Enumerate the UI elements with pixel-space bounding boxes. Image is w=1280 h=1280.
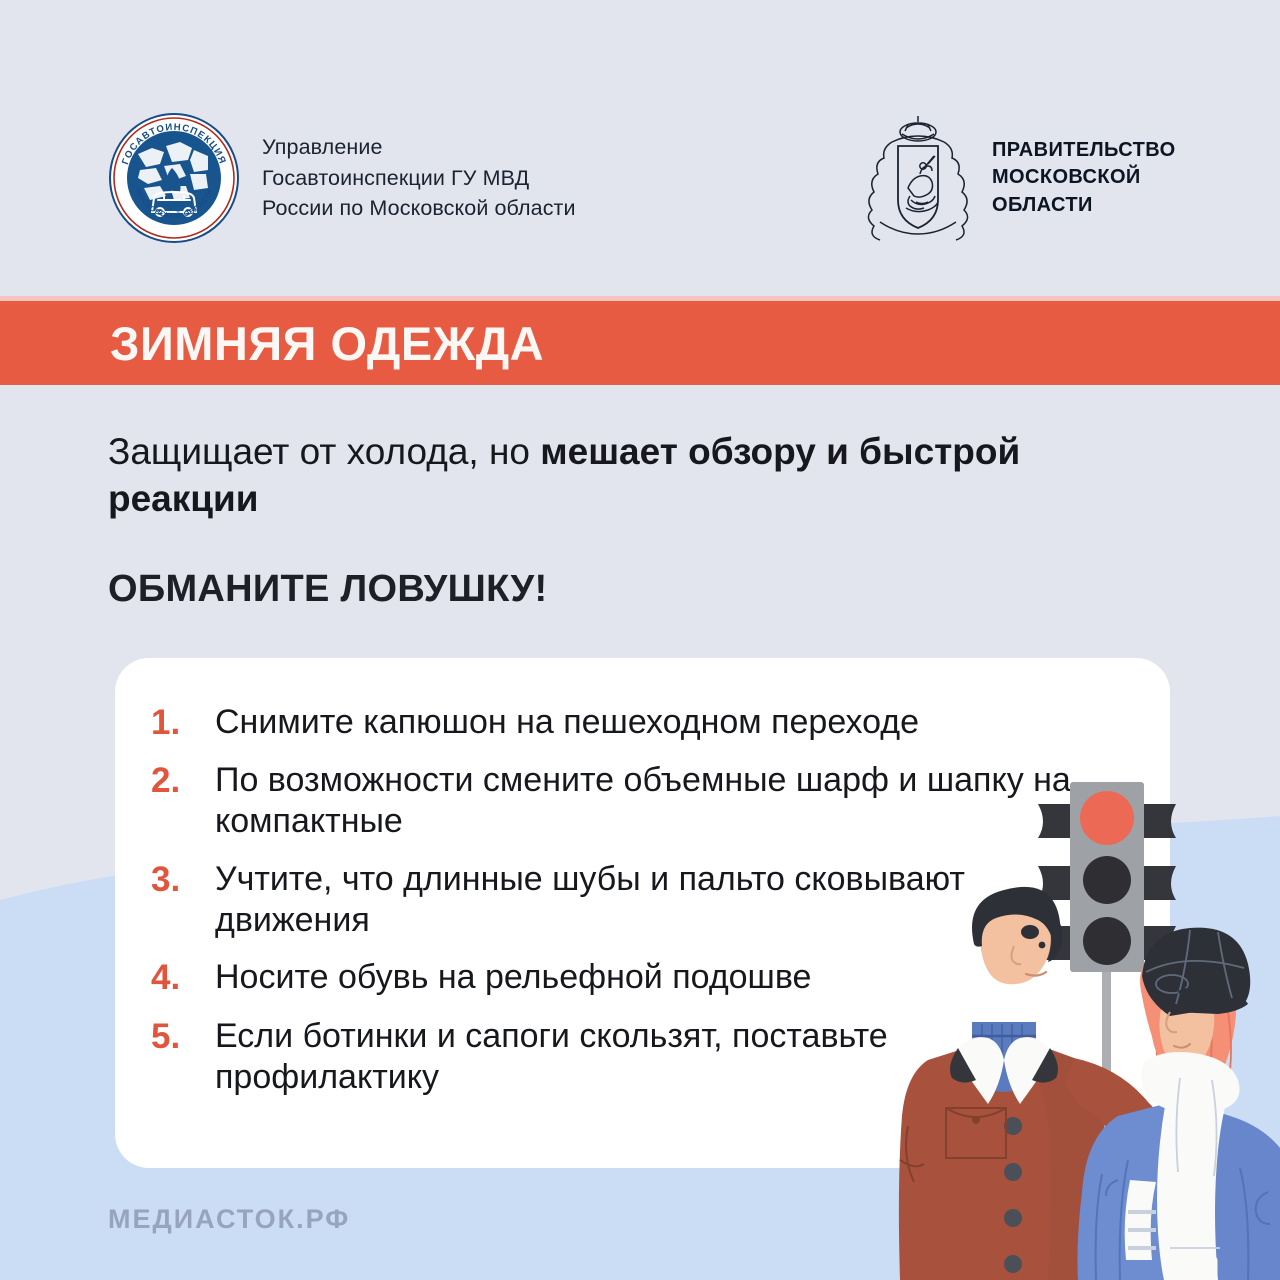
gov-text-line-1: ПРАВИТЕЛЬСТВО <box>992 137 1176 164</box>
list-item: 1. Снимите капюшон на пешеходном переход… <box>115 702 1170 743</box>
gov-text-line-3: ОБЛАСТИ <box>992 192 1176 219</box>
gov-logo-text: ПРАВИТЕЛЬСТВО МОСКОВСКОЙ ОБЛАСТИ <box>992 137 1176 219</box>
list-item-number: 1. <box>151 702 197 743</box>
gosavtoinspektsiya-emblem-icon: ГОСАВТОИНСПЕКЦИЯ МОСКОВСКОЙ ОБЛАСТИ <box>108 112 240 244</box>
gai-text-line-2: Госавтоинспекции ГУ МВД <box>262 163 576 194</box>
intro-paragraph: Защищает от холода, но мешает обзору и б… <box>108 428 1168 523</box>
winter-pedestrians-illustration <box>880 760 1280 1280</box>
banner-title: ЗИМНЯЯ ОДЕЖДА <box>110 320 544 367</box>
coat-button <box>1004 1163 1022 1181</box>
gai-text-line-1: Управление <box>262 132 576 163</box>
coat-button <box>1004 1255 1022 1273</box>
list-item-number: 3. <box>151 859 197 900</box>
watermark: МЕДИАСТОК.РФ <box>108 1204 350 1235</box>
traffic-light-yellow-lamp <box>1083 856 1131 904</box>
gai-logo-text: Управление Госавтоинспекции ГУ МВД Росси… <box>262 132 576 224</box>
list-item-text: Носите обувь на рельефной подошве <box>215 957 811 998</box>
subheading: ОБМАНИТЕ ЛОВУШКУ! <box>108 568 547 611</box>
list-item-number: 4. <box>151 957 197 998</box>
coat-button <box>1004 1209 1022 1227</box>
list-item-text: Снимите капюшон на пешеходном переходе <box>215 702 919 743</box>
intro-plain-text: Защищает от холода, но <box>108 431 540 472</box>
moscow-oblast-coat-of-arms-icon <box>866 112 970 244</box>
infographic-page: ГОСАВТОИНСПЕКЦИЯ МОСКОВСКОЙ ОБЛАСТИ Упра… <box>0 0 1280 1280</box>
list-item-number: 2. <box>151 760 197 801</box>
header-bar: ГОСАВТОИНСПЕКЦИЯ МОСКОВСКОЙ ОБЛАСТИ Упра… <box>0 0 1280 296</box>
gov-text-line-2: МОСКОВСКОЙ <box>992 164 1176 191</box>
gov-logo-block: ПРАВИТЕЛЬСТВО МОСКОВСКОЙ ОБЛАСТИ <box>866 112 1176 244</box>
traffic-light-green-lamp <box>1083 917 1131 965</box>
gai-text-line-3: России по Московской области <box>262 193 576 224</box>
traffic-light-red-lamp <box>1080 791 1134 845</box>
gai-logo-block: ГОСАВТОИНСПЕКЦИЯ МОСКОВСКОЙ ОБЛАСТИ Упра… <box>108 112 576 244</box>
section-banner: ЗИМНЯЯ ОДЕЖДА <box>0 301 1280 385</box>
list-item-number: 5. <box>151 1016 197 1057</box>
